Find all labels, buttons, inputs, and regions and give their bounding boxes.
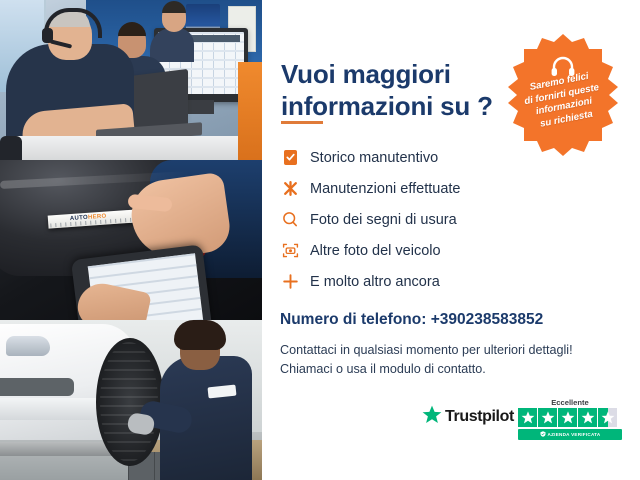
star-icon xyxy=(518,408,537,427)
car-headlight xyxy=(6,336,50,356)
list-item-label: Foto dei segni di usura xyxy=(304,212,457,228)
vehicle-lift-arm xyxy=(0,442,112,456)
foreground-desk xyxy=(10,136,262,160)
camera-scan-icon xyxy=(276,241,304,261)
list-item: Foto dei segni di usura xyxy=(276,204,576,235)
feature-list: Storico manutentivo Manutenzioni effettu… xyxy=(276,142,576,297)
headline-line-2: informazioni su ? xyxy=(281,91,493,121)
plus-icon xyxy=(276,272,304,292)
headline-line-1: Vuoi maggiori xyxy=(281,59,451,89)
list-item-label: Manutenzioni effettuate xyxy=(304,181,460,197)
list-item: Manutenzioni effettuate xyxy=(276,173,576,204)
photo-autohero-inspection-ruler: AUTOHERO xyxy=(0,160,262,320)
trustpilot-widget[interactable]: Trustpilot Eccellente xyxy=(422,398,622,450)
title-underline-rule xyxy=(281,121,323,124)
star-icon xyxy=(558,408,577,427)
photo-strip: AUTOHERO xyxy=(0,0,262,480)
trustpilot-star-icon xyxy=(422,405,442,429)
photo-call-center-agents xyxy=(0,0,262,160)
orange-panel xyxy=(238,62,262,160)
verified-company-badge: AZIENDA VERIFICATA xyxy=(518,429,622,440)
list-item-label: Altre foto del veicolo xyxy=(304,243,441,259)
document-check-icon xyxy=(276,148,304,168)
list-item-label: Storico manutentivo xyxy=(304,150,438,166)
list-item: E molto altro ancora xyxy=(276,266,576,297)
wrench-cross-icon xyxy=(276,179,304,199)
car-grille xyxy=(0,378,74,396)
content-panel: Vuoi maggiori informazioni su ? Storico … xyxy=(262,0,640,480)
star-icon xyxy=(538,408,557,427)
car-bumper xyxy=(0,398,106,420)
list-item: Altre foto del veicolo xyxy=(276,235,576,266)
agent-three-body xyxy=(150,28,194,62)
monitor-stand xyxy=(188,100,214,114)
photo-mechanic-wheel-inspection xyxy=(0,320,262,480)
verified-label: AZIENDA VERIFICATA xyxy=(548,432,601,437)
request-info-badge: Saremo felici di fornirti queste informa… xyxy=(500,32,626,158)
trustpilot-rating-block: Eccellente xyxy=(518,398,622,440)
star-half-icon xyxy=(598,408,617,427)
star-rating xyxy=(518,408,622,427)
agent-three-head xyxy=(162,4,186,32)
magnifier-icon xyxy=(276,210,304,230)
phone-number[interactable]: Numero di telefono: +390238583852 xyxy=(280,311,543,329)
promotional-banner: AUTOHERO xyxy=(0,0,640,480)
trustpilot-logo: Trustpilot xyxy=(422,405,514,429)
mechanic-hair xyxy=(174,320,226,350)
star-icon xyxy=(578,408,597,427)
page-title: Vuoi maggiori informazioni su ? xyxy=(281,59,517,122)
list-item-label: E molto altro ancora xyxy=(304,274,440,290)
shield-check-icon xyxy=(540,431,546,438)
contact-line-1: Contattaci in qualsiasi momento per ulte… xyxy=(280,341,592,360)
contact-line-2: Chiamaci o usa il modulo di contatto. xyxy=(280,360,592,379)
trustpilot-wordmark: Trustpilot xyxy=(442,408,514,426)
office-chair xyxy=(0,136,22,160)
contact-instructions: Contattaci in qualsiasi momento per ulte… xyxy=(280,341,592,379)
rating-label: Eccellente xyxy=(518,398,622,408)
